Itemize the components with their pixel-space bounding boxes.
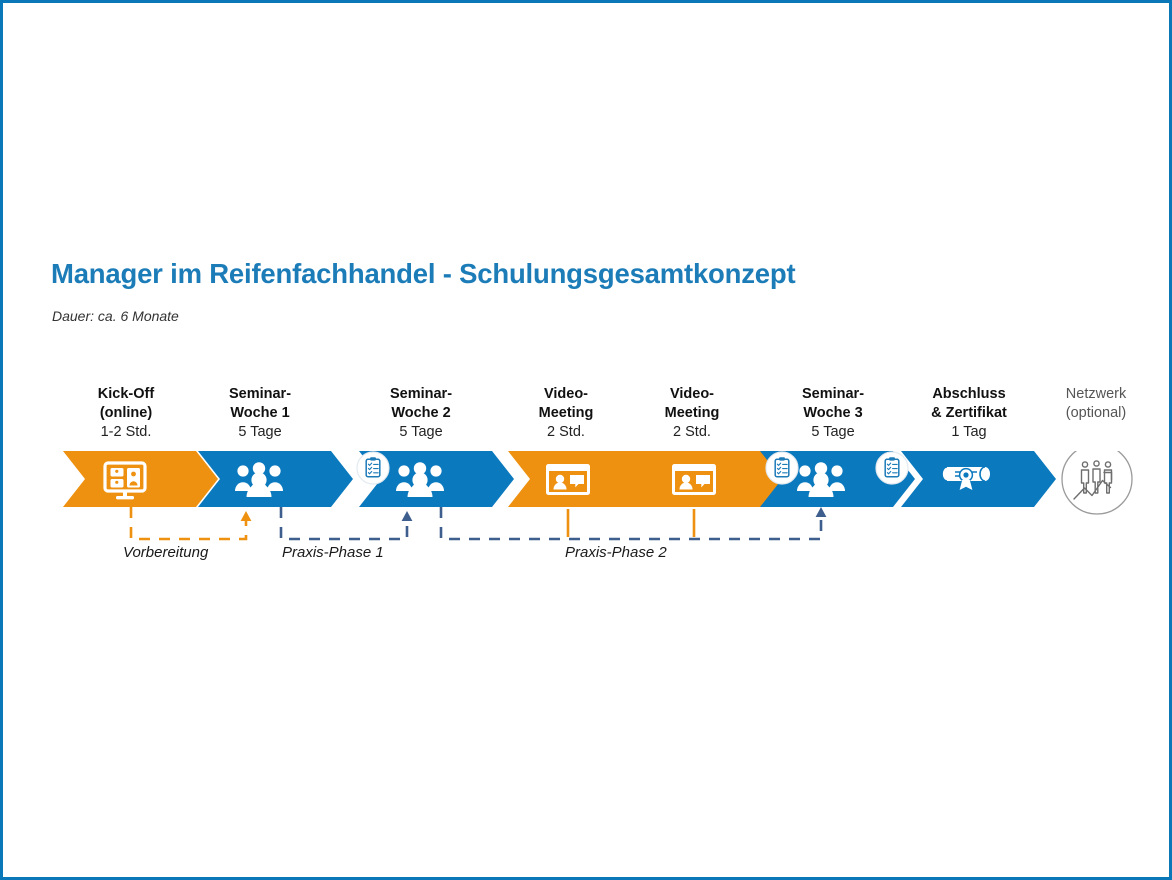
- step-label-line2: (optional): [1016, 404, 1172, 423]
- process-step-seminar-woche-1[interactable]: [198, 451, 353, 507]
- step-label-seminar-woche-1: Seminar- Woche 1 5 Tage: [180, 385, 340, 442]
- process-step-seminar-woche-2[interactable]: [357, 451, 514, 507]
- checklist-badge-seminar-woche-3-start: [766, 452, 798, 484]
- step-label-line1: Video-: [612, 385, 772, 404]
- connector-praxis-phase-2: [441, 507, 826, 539]
- step-label-line1: Seminar-: [180, 385, 340, 404]
- process-step-video-meeting-2[interactable]: [634, 451, 789, 507]
- checklist-badge-seminar-woche-2: [357, 452, 389, 484]
- slide-canvas: Manager im Reifenfachhandel - Schulungsg…: [3, 3, 1169, 877]
- step-label-line1: Netzwerk: [1016, 385, 1172, 404]
- process-step-seminar-woche-3[interactable]: [760, 451, 915, 507]
- connector-praxis-phase-1: [281, 507, 412, 539]
- phase-label-praxis-phase-2: Praxis-Phase 2: [565, 544, 667, 561]
- process-step-video-meeting-1[interactable]: [508, 451, 663, 507]
- page-subtitle: Dauer: ca. 6 Monate: [52, 308, 179, 324]
- step-label-line2: Woche 2: [341, 404, 501, 423]
- phase-label-vorbereitung: Vorbereitung: [123, 544, 208, 561]
- chevron-shape: [63, 451, 218, 507]
- step-label-line1: Seminar-: [341, 385, 501, 404]
- step-label-line2: Meeting: [612, 404, 772, 423]
- step-label-seminar-woche-2: Seminar- Woche 2 5 Tage: [341, 385, 501, 442]
- step-label-netzwerk: Netzwerk (optional): [1016, 385, 1172, 423]
- chevron-shape: [198, 451, 353, 507]
- step-label-line3: 5 Tage: [341, 423, 501, 442]
- page-title: Manager im Reifenfachhandel - Schulungsg…: [51, 258, 795, 290]
- step-label-line3: 2 Std.: [612, 423, 772, 442]
- video-call-icon: [672, 464, 716, 495]
- connector-vorbereitung: [131, 507, 251, 539]
- step-label-line2: Woche 1: [180, 404, 340, 423]
- phase-label-praxis-phase-1: Praxis-Phase 1: [282, 544, 384, 561]
- process-step-kick-off[interactable]: [63, 451, 218, 507]
- step-label-video-meeting-2: Video- Meeting 2 Std.: [612, 385, 772, 442]
- video-call-icon: [546, 464, 590, 495]
- process-step-abschluss[interactable]: [901, 451, 1056, 507]
- step-label-line3: 5 Tage: [180, 423, 340, 442]
- slide-frame: Manager im Reifenfachhandel - Schulungsg…: [0, 0, 1172, 880]
- process-step-netzwerk[interactable]: [1062, 451, 1132, 514]
- step-label-line3: 1 Tag: [889, 423, 1049, 442]
- checklist-badge-seminar-woche-3-end: [876, 452, 908, 484]
